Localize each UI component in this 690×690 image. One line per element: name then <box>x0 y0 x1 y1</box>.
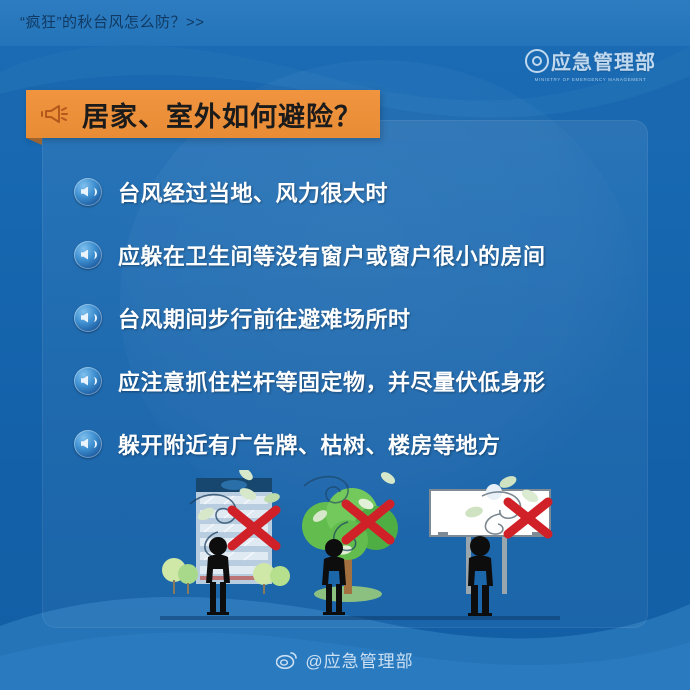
list-item: 应躲在卫生间等没有窗户或窗户很小的房间 <box>74 223 654 286</box>
poster-root: “疯狂”的秋台风怎么防？>> 应急管理部 MINISTRY OF EMERGEN… <box>0 0 690 690</box>
list-item-label: 应注意抓住栏杆等固定物，并尽量伏低身形 <box>118 365 546 397</box>
list-item-label: 躲开附近有广告牌、枯树、楼房等地方 <box>118 428 501 460</box>
section-title-text: 居家、室外如何避险？ <box>82 95 362 134</box>
building-scene <box>162 470 290 615</box>
speaker-icon <box>74 304 102 332</box>
teaser-text: “疯狂”的秋台风怎么防？>> <box>20 11 205 32</box>
logo-main-row: 应急管理部 <box>525 46 656 75</box>
logo-subtitle: MINISTRY OF EMERGENCY MANAGEMENT <box>525 77 656 83</box>
weibo-icon <box>276 651 298 669</box>
megaphone-icon <box>40 102 70 126</box>
speaker-icon <box>74 430 102 458</box>
list-item-label: 台风经过当地、风力很大时 <box>118 176 388 208</box>
tree-scene <box>302 470 398 615</box>
ministry-logo: 应急管理部 MINISTRY OF EMERGENCY MANAGEMENT <box>525 46 656 82</box>
hazard-illustration <box>160 470 560 620</box>
at-sign-icon <box>525 49 549 73</box>
billboard-scene <box>430 474 550 616</box>
logo-name: 应急管理部 <box>551 46 656 75</box>
footer-handle: @应急管理部 <box>305 647 413 672</box>
person-silhouette <box>322 539 346 615</box>
person-silhouette <box>468 536 493 616</box>
list-item: 躲开附近有广告牌、枯树、楼房等地方 <box>74 412 654 475</box>
speaker-icon <box>74 178 102 206</box>
list-item: 台风期间步行前往避难场所时 <box>74 286 654 349</box>
speaker-icon <box>74 367 102 395</box>
list-item-label: 应躲在卫生间等没有窗户或窗户很小的房间 <box>118 239 546 271</box>
section-title-banner: 居家、室外如何避险？ <box>26 90 380 138</box>
ground-line <box>160 616 560 620</box>
bullet-list: 台风经过当地、风力很大时 应躲在卫生间等没有窗户或窗户很小的房间 台风期间步行前… <box>74 160 654 475</box>
speaker-icon <box>74 241 102 269</box>
list-item: 台风经过当地、风力很大时 <box>74 160 654 223</box>
list-item: 应注意抓住栏杆等固定物，并尽量伏低身形 <box>74 349 654 412</box>
footer-watermark: @应急管理部 <box>0 647 690 672</box>
list-item-label: 台风期间步行前往避难场所时 <box>118 302 411 334</box>
